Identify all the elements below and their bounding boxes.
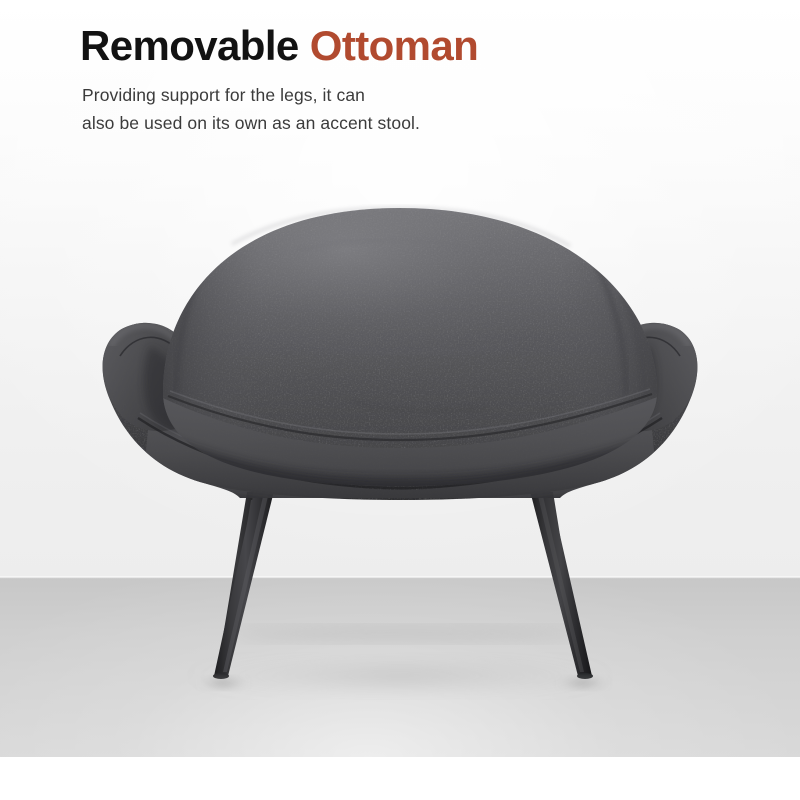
subtitle-line-2: also be used on its own as an accent sto… xyxy=(82,109,740,137)
leg-right-specular xyxy=(537,492,584,672)
header-text-block: Removable Ottoman Providing support for … xyxy=(80,22,740,138)
bottom-white-strip xyxy=(0,757,800,800)
page-subtitle: Providing support for the legs, it can a… xyxy=(82,81,740,138)
product-feature-image: Removable Ottoman Providing support for … xyxy=(0,0,800,800)
title-accent: Ottoman xyxy=(310,22,478,69)
ottoman-ground-shadow xyxy=(185,656,615,696)
page-title: Removable Ottoman xyxy=(80,22,740,69)
title-primary: Removable xyxy=(80,22,299,69)
rear-floor-shadow xyxy=(233,625,583,643)
leg-right-contact-shadow xyxy=(557,676,609,690)
subtitle-line-1: Providing support for the legs, it can xyxy=(82,81,740,109)
ottoman-removable-cushion xyxy=(150,195,670,500)
leg-left-contact-shadow xyxy=(197,676,249,690)
